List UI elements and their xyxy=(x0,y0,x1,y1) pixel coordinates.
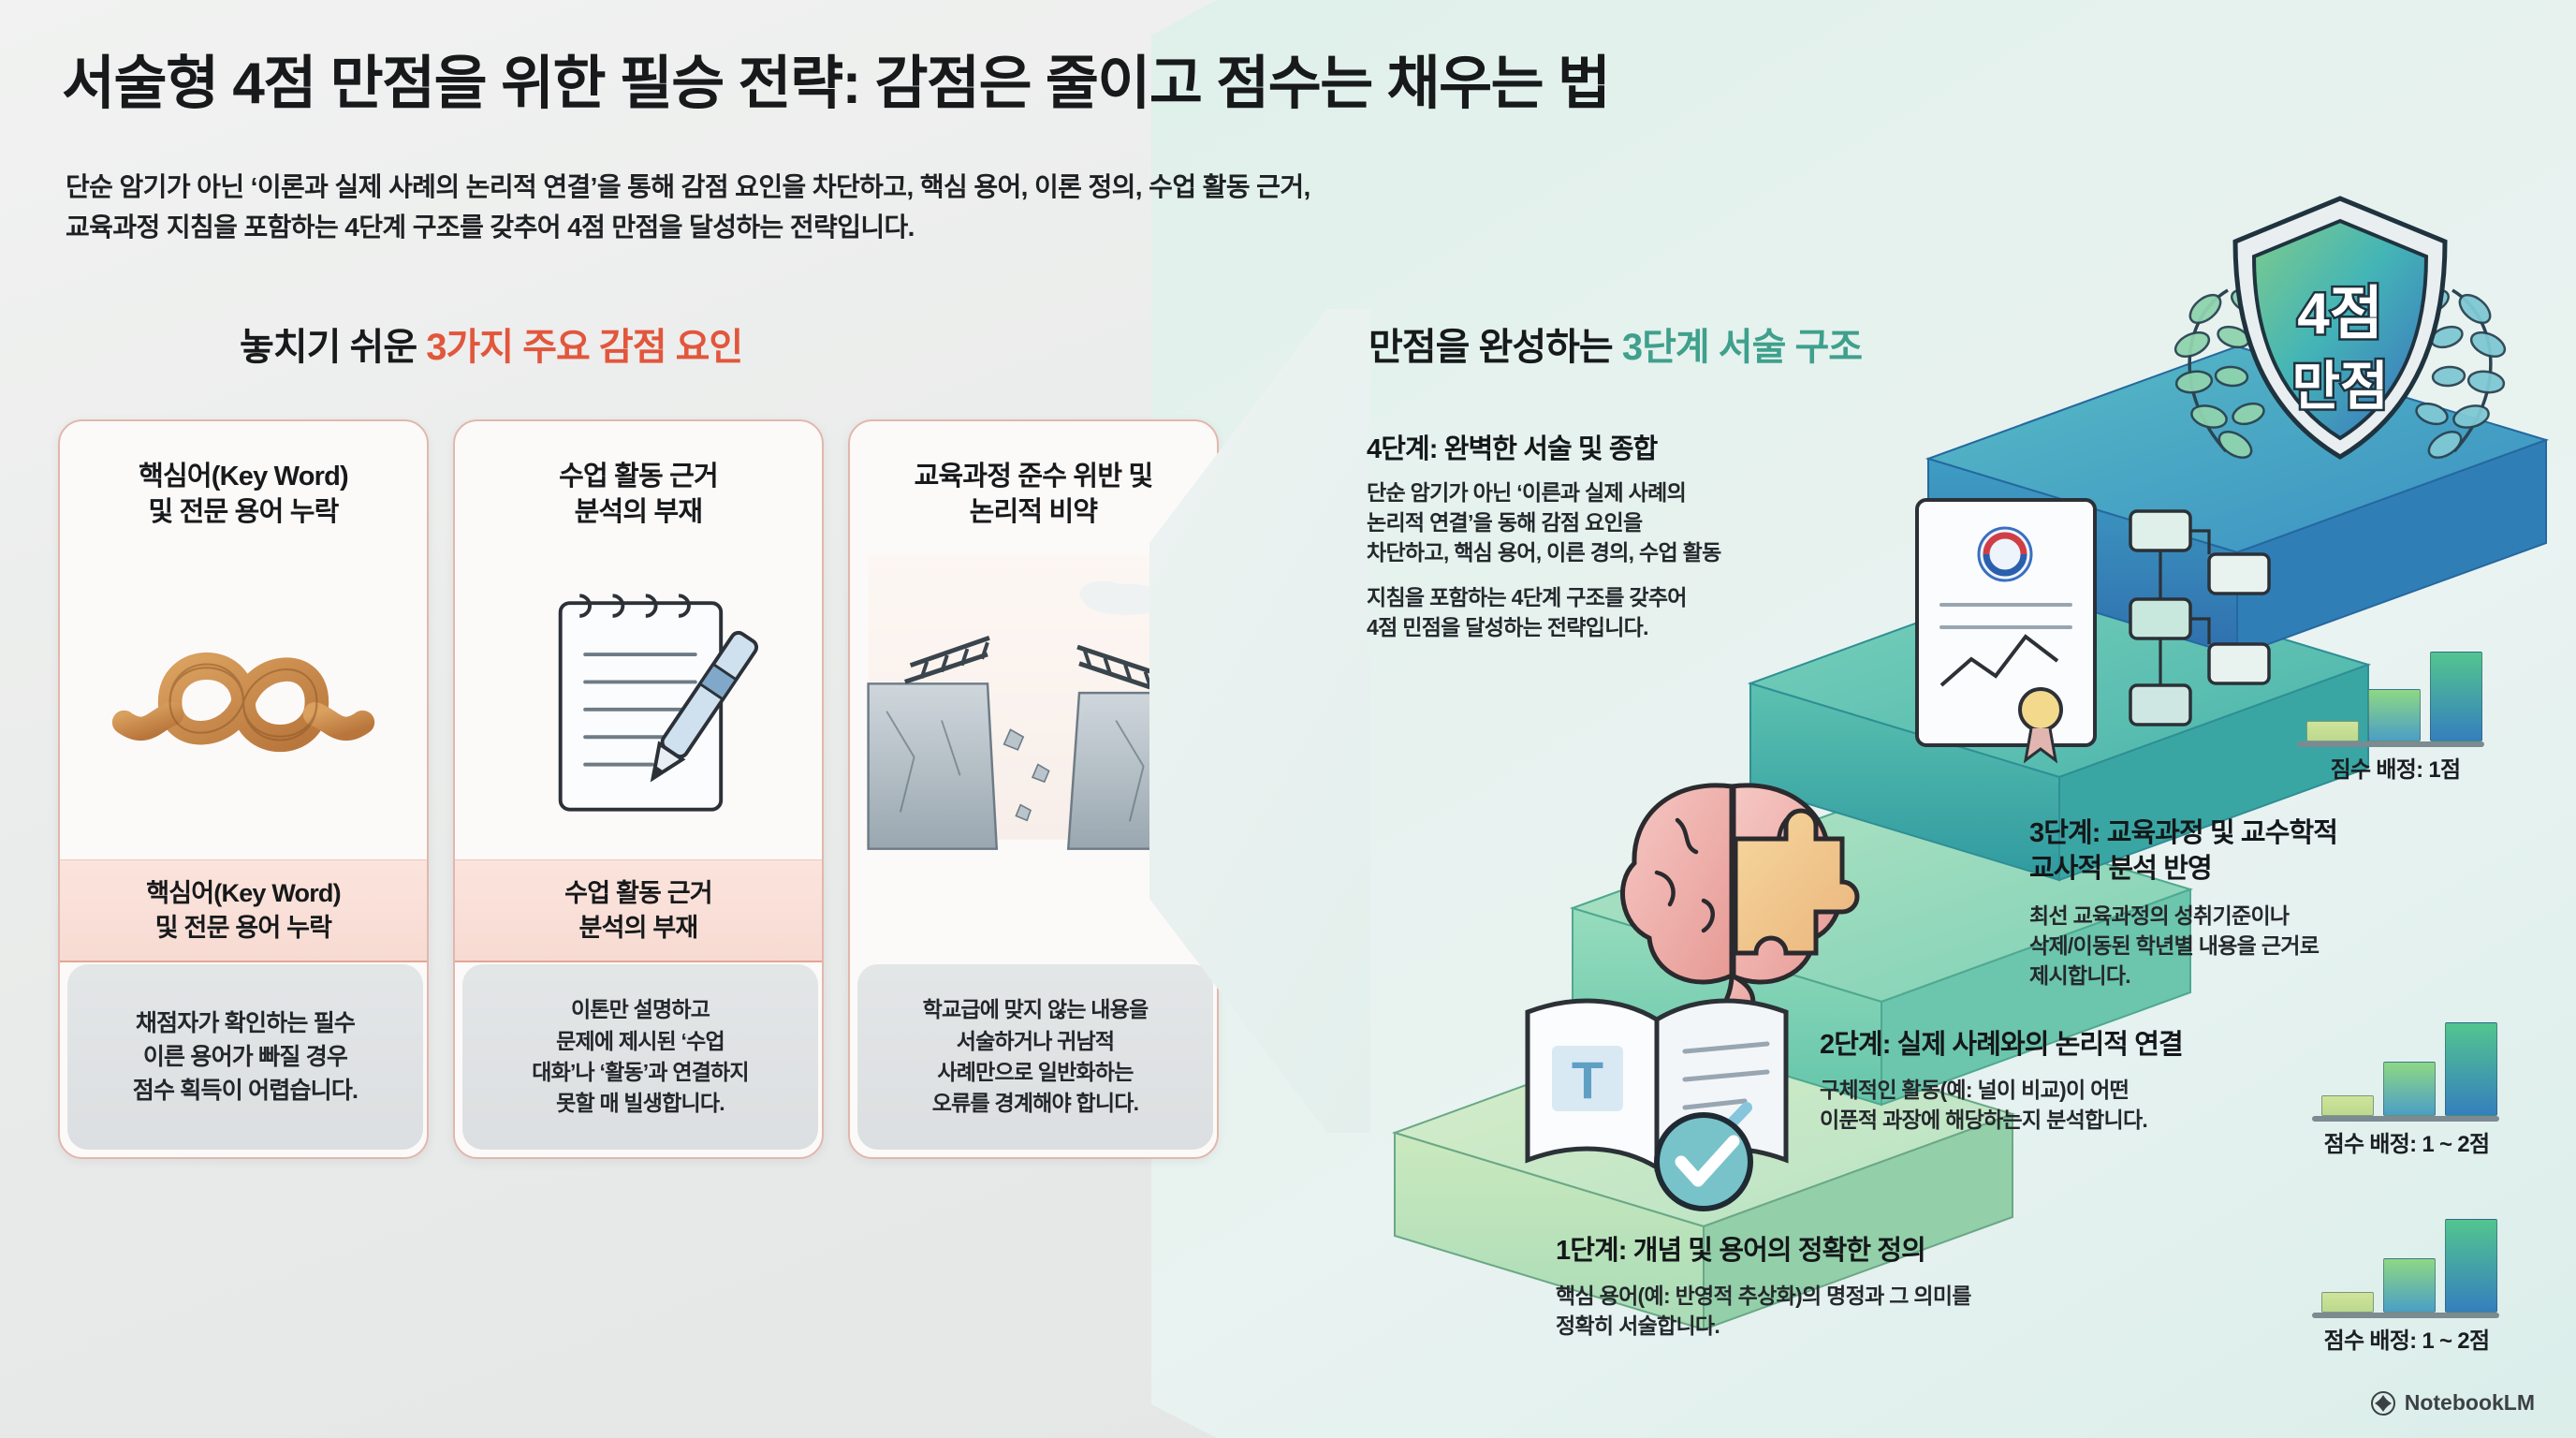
subtitle-line-2: 교육과정 지침을 포함하는 4단계 구조를 갖추어 4점 만점을 달성하는 전략… xyxy=(66,207,2087,247)
card-1-band: 핵심어(Key Word) 및 전문 용어 누락 xyxy=(60,859,427,962)
card-3-description: 학교급에 맞지 않는 내용을 서술하거나 귀남적 사례만으로 일반화하는 오류를… xyxy=(857,964,1213,1150)
bar-group-step-2 xyxy=(2312,1020,2499,1122)
bar-2 xyxy=(2383,1258,2436,1313)
card-2-title: 수업 활동 근거 분석의 부재 xyxy=(455,459,822,531)
chart-baseline xyxy=(2297,741,2484,747)
badge-line-1: 4점 xyxy=(2297,282,2383,346)
open-book-check-icon: T xyxy=(1507,969,1816,1222)
card-2-band-label: 수업 활동 근거 분석의 부재 xyxy=(564,876,712,945)
step-4-body: 단순 암기가 아닌 ‘이른과 실제 사례의 논리적 연결’을 동해 감점 요인을… xyxy=(1367,477,1966,568)
card-3-title: 교육과정 준수 위반 및 논리적 비약 xyxy=(850,459,1217,531)
svg-text:T: T xyxy=(1572,1050,1603,1109)
bar-3 xyxy=(2445,1022,2497,1116)
bar-2 xyxy=(2368,689,2421,741)
step-4-title: 4단계: 완벽한 서술 및 종합 xyxy=(1367,433,1947,468)
score-chart-step-4: 짐수 배정: 1점 xyxy=(2297,646,2494,784)
score-label-step-2: 점수 배정: 1 ~ 2점 xyxy=(2299,1125,2514,1158)
bar-3 xyxy=(2430,652,2482,741)
bar-1 xyxy=(2321,1292,2374,1313)
bar-1 xyxy=(2321,1095,2374,1116)
card-3-description-text: 학교급에 맞지 않는 내용을 서술하거나 귀남적 사례만으로 일반화하는 오류를… xyxy=(923,994,1149,1119)
chart-baseline xyxy=(2312,1116,2499,1122)
bar-1 xyxy=(2306,721,2359,741)
bar-group-step-4 xyxy=(2297,646,2484,747)
subtitle-line-1: 단순 암기가 아닌 ‘이론과 실제 사례의 논리적 연결’을 통해 감점 요인을… xyxy=(66,167,2087,207)
card-1-description-text: 채점자가 확인하는 필수 이른 용어가 빠질 경우 점수 획득이 어렵습니다. xyxy=(133,1006,358,1108)
card-1-description: 채점자가 확인하는 필수 이른 용어가 빠질 경우 점수 획득이 어렵습니다. xyxy=(67,964,423,1150)
step-3-body: 최선 교육과정의 성취기준이나 삭제/이동된 학년별 내용을 근거로 제시합니다… xyxy=(2029,901,2563,991)
card-2-description: 이톤만 설명하고 문제에 제시된 ‘수업 대화’나 ‘활동’과 연결하지 못할 … xyxy=(462,964,818,1150)
card-1-title: 핵심어(Key Word) 및 전문 용어 누락 xyxy=(60,459,427,531)
rope-knot-icon xyxy=(60,562,427,843)
deduction-card-1[interactable]: 핵심어(Key Word) 및 전문 용어 누락 xyxy=(58,419,429,1159)
score-label-step-4: 짐수 배정: 1점 xyxy=(2297,751,2494,784)
chart-baseline xyxy=(2312,1313,2499,1318)
step-1-title: 1단계: 개념 및 용어의 정확한 정의 xyxy=(1556,1234,2398,1269)
bar-3 xyxy=(2445,1219,2497,1313)
page-subtitle: 단순 암기가 아닌 ‘이론과 실제 사례의 논리적 연결’을 통해 감점 요인을… xyxy=(66,167,2087,248)
left-heading-accent: 3가지 주요 감점 요인 xyxy=(426,327,742,368)
card-2-band: 수업 활동 근거 분석의 부재 xyxy=(455,859,822,962)
watermark-label: NotebookLM xyxy=(2405,1390,2535,1416)
badge-line-2: 만점 xyxy=(2291,357,2388,416)
deduction-card-2[interactable]: 수업 활동 근거 분석의 부재 xyxy=(453,419,824,1159)
score-chart-step-1: 점수 배정: 1 ~ 2점 xyxy=(2312,1217,2514,1355)
bar-group-step-1 xyxy=(2312,1217,2499,1318)
page-title: 서술형 4점 만점을 위한 필승 전략: 감점은 줄이고 점수는 채우는 법 xyxy=(62,36,2533,120)
step-4-body-2: 지침을 포함하는 4단계 구조를 갖추어 4점 민점을 달성하는 전략입니다. xyxy=(1367,582,1966,642)
score-chart-step-2: 점수 배정: 1 ~ 2점 xyxy=(2312,1020,2514,1158)
shield-laurel-icon: 4점 만점 xyxy=(2115,159,2565,477)
left-heading-black: 놓치기 쉬운 xyxy=(240,327,426,368)
infographic-root: 서술형 4점 만점을 위한 필승 전략: 감점은 줄이고 점수는 채우는 법 단… xyxy=(0,0,2576,1438)
step-3-title: 3단계: 교육과정 및 교수학적 교사적 분석 반영 xyxy=(2029,816,2554,887)
notebooklm-icon xyxy=(2371,1391,2395,1416)
watermark: NotebookLM xyxy=(2371,1390,2535,1416)
card-1-band-label: 핵심어(Key Word) 및 전문 용어 누락 xyxy=(146,876,341,945)
notepad-pen-icon xyxy=(455,562,822,843)
card-2-description-text: 이톤만 설명하고 문제에 제시된 ‘수업 대화’나 ‘활동’과 연결하지 못할 … xyxy=(532,994,749,1119)
left-section-heading: 놓치기 쉬운 3가지 주요 감점 요인 xyxy=(240,316,742,371)
score-label-step-1: 점수 배정: 1 ~ 2점 xyxy=(2299,1322,2514,1355)
bar-2 xyxy=(2383,1062,2436,1116)
